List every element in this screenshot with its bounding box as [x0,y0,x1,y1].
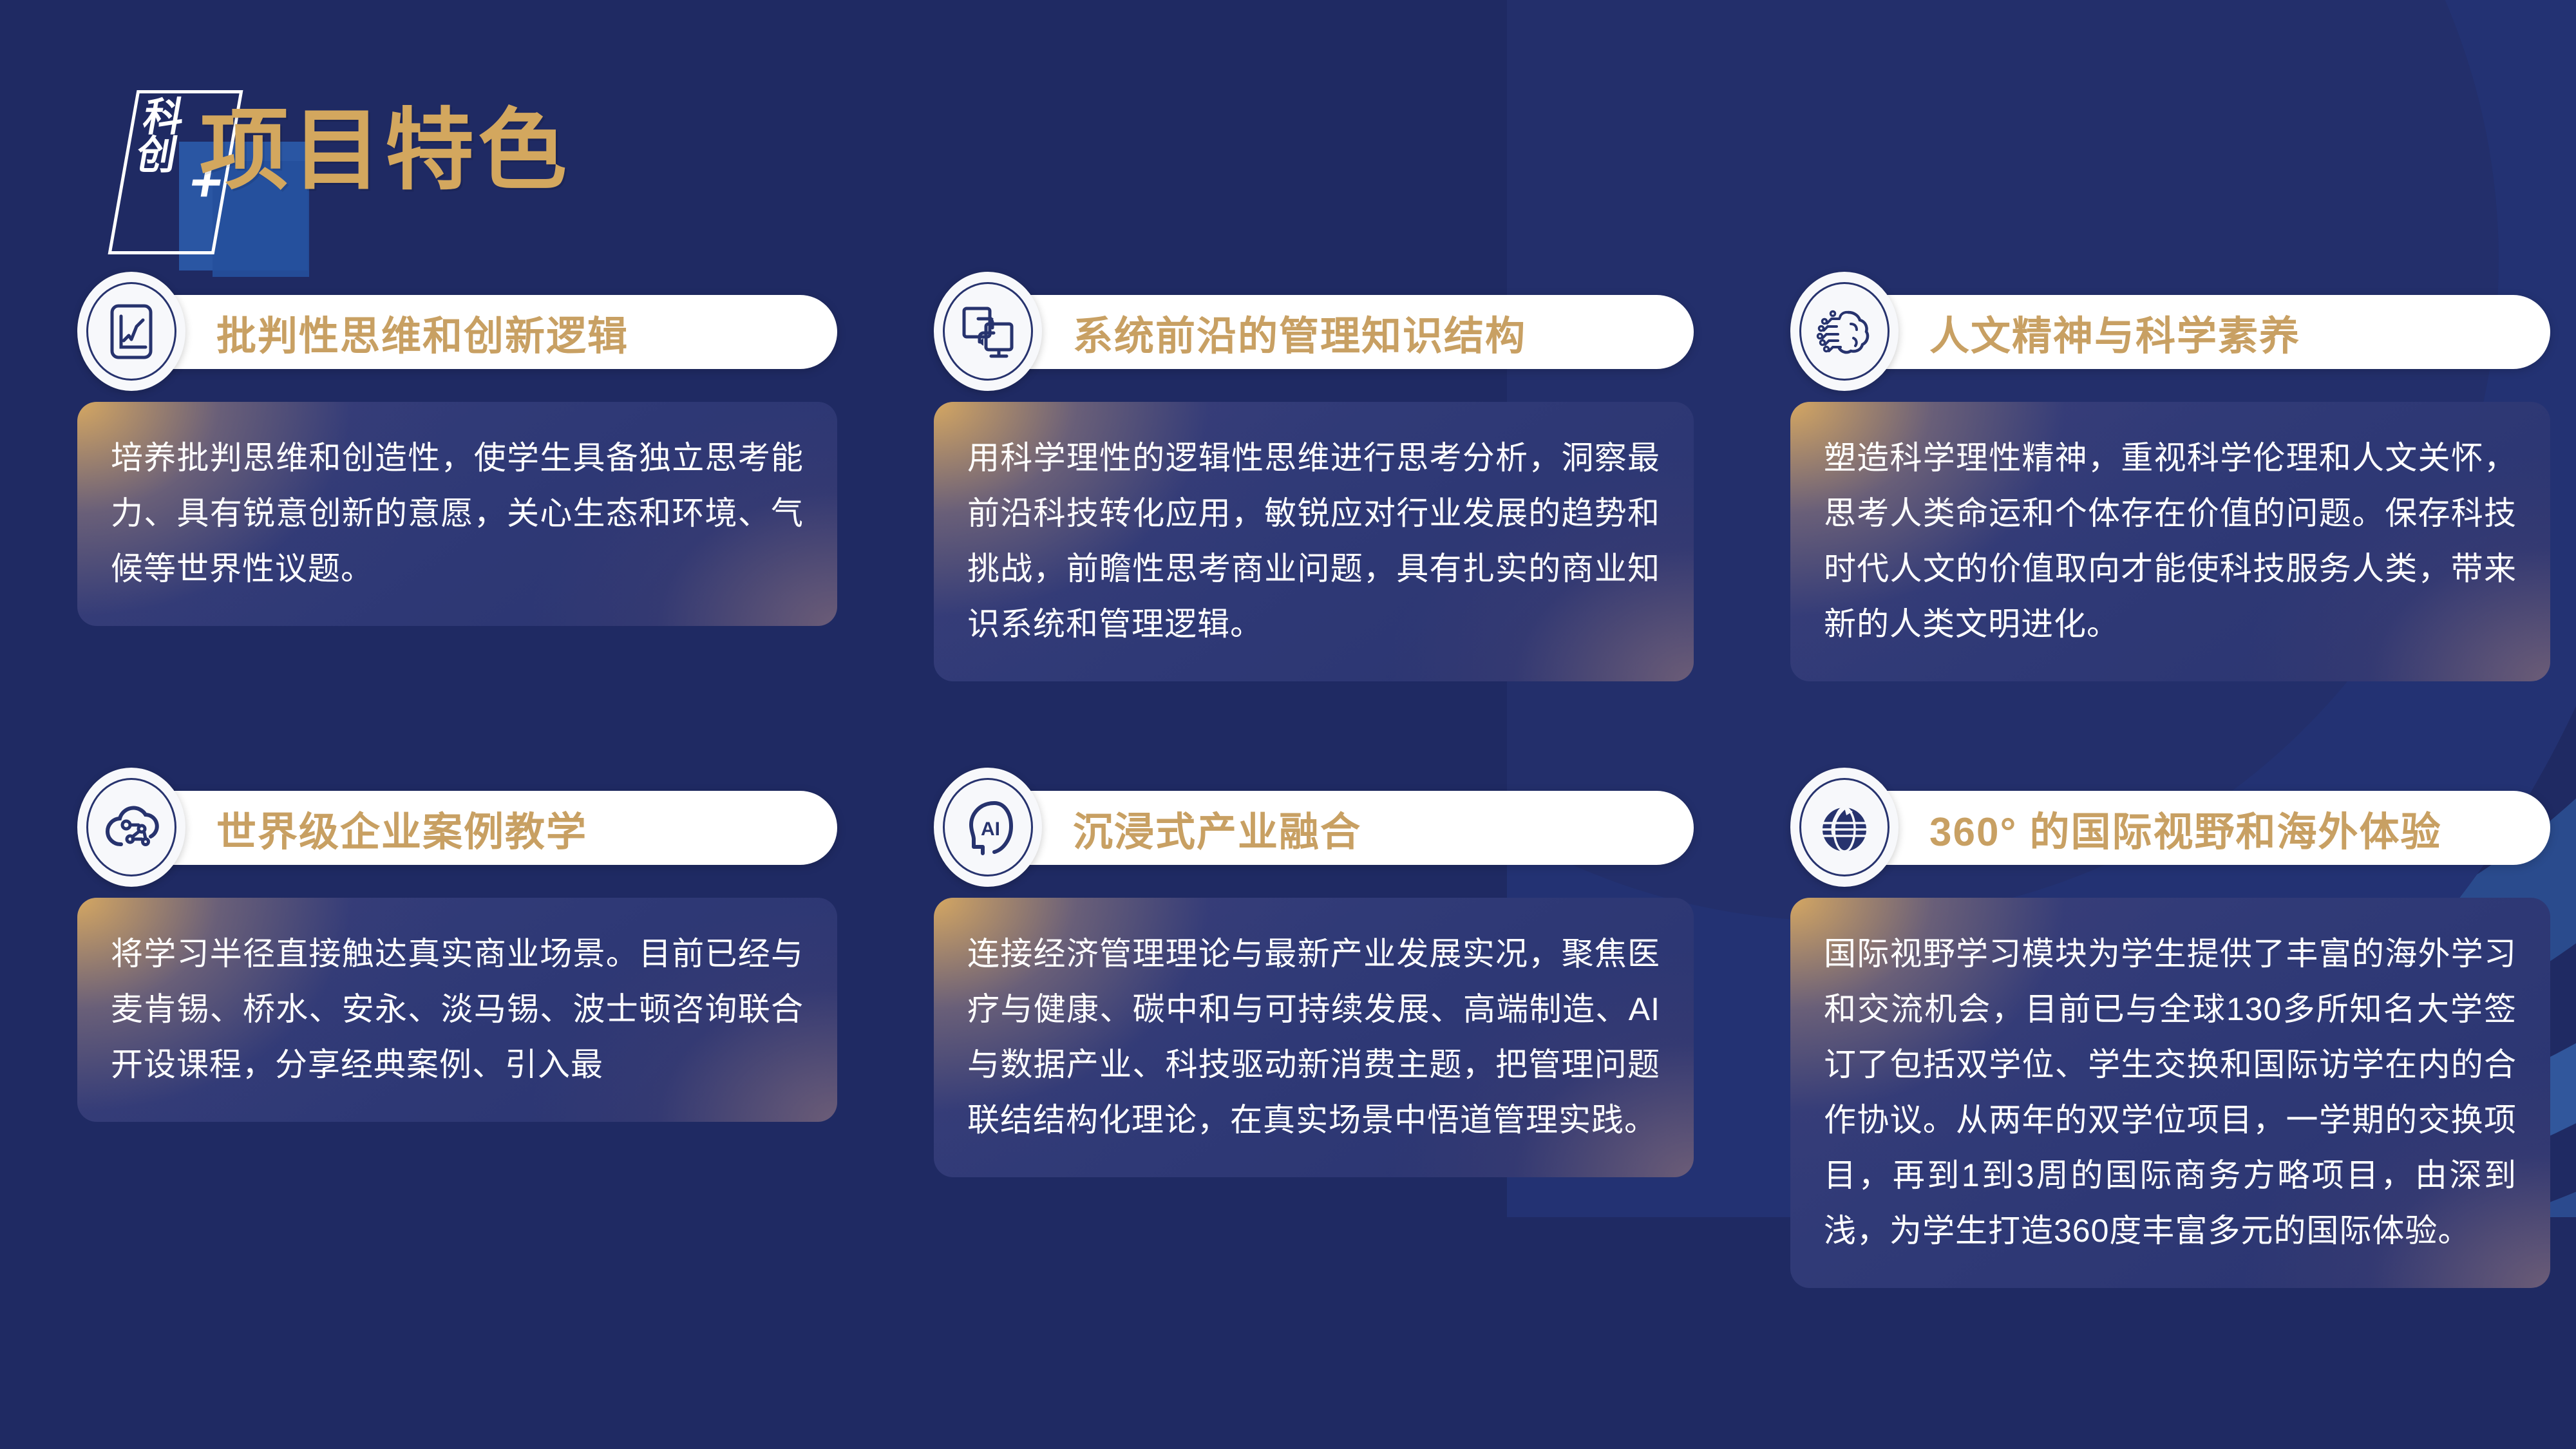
card-body-text: 国际视野学习模块为学生提供了丰富的海外学习和交流机会，目前已与全球130多所知名… [1824,926,2517,1258]
globe-icon [1790,768,1899,887]
feature-card[interactable]: 人文精神与科学素养 [1790,283,2550,681]
card-row-2: 世界级企业案例教学 [0,779,2576,1282]
card-body: 培养批判思维和创造性，使学生具备独立思考能力、具有锐意创新的意愿，关心生态和环境… [77,402,837,626]
card-row-1: 批判性思维和创新逻辑 培养批判思维和创造性，使学生具备独立思 [0,283,2576,779]
card-title: 世界级企业案例教学 [216,791,587,865]
feature-card[interactable]: 沉浸式产业融合 AI 连接经济管理理论与最新产业发展实况，聚焦 [934,779,1694,1177]
card-icon-badge [77,272,185,391]
card-body-text: 培养批判思维和创造性，使学生具备独立思考能力、具有锐意创新的意愿，关心生态和环境… [111,430,804,596]
card-header: 人文精神与科学素养 [1820,283,2550,380]
svg-text:AI: AI [981,819,1000,840]
slide-header: 科创 + 项目特色 [122,84,702,232]
cloud-network-icon [77,768,185,887]
card-title: 批判性思维和创新逻辑 [216,295,629,369]
card-body: 将学习半径直接触达真实商业场景。目前已经与麦肯锡、桥水、安永、淡马锡、波士顿咨询… [77,898,837,1122]
card-body: 连接经济管理理论与最新产业发展实况，聚焦医疗与健康、碳中和与可持续发展、高端制造… [934,898,1694,1177]
card-title: 系统前沿的管理知识结构 [1073,295,1526,369]
feature-card[interactable]: 世界级企业案例教学 [77,779,837,1122]
card-icon-badge [934,272,1042,391]
logo-char-2: 创 [133,133,180,178]
card-body-text: 连接经济管理理论与最新产业发展实况，聚焦医疗与健康、碳中和与可持续发展、高端制造… [967,926,1660,1148]
card-body: 塑造科学理性精神，重视科学伦理和人文关怀，思考人类命运和个体存在价值的问题。保存… [1790,402,2550,681]
page-title: 项目特色 [200,106,571,195]
card-icon-badge [77,768,185,887]
card-header: 360° 的国际视野和海外体验 [1820,779,2550,876]
card-title: 人文精神与科学素养 [1929,295,2300,369]
card-header: 世界级企业案例教学 [107,779,837,876]
card-icon-badge [1790,768,1899,887]
card-body: 国际视野学习模块为学生提供了丰富的海外学习和交流机会，目前已与全球130多所知名… [1790,898,2550,1288]
feature-card[interactable]: 系统前沿的管理知识结构 [934,283,1694,681]
feature-card[interactable]: 360° 的国际视野和海外体验 [1790,779,2550,1288]
ai-brain-circuit-icon [1790,272,1899,391]
card-body-text: 用科学理性的逻辑性思维进行思考分析，洞察最前沿科技转化应用，敏锐应对行业发展的趋… [967,430,1660,652]
card-title: 360° 的国际视野和海外体验 [1929,791,2441,865]
ai-head-icon: AI [934,768,1042,887]
card-body-text: 塑造科学理性精神，重视科学伦理和人文关怀，思考人类命运和个体存在价值的问题。保存… [1824,430,2517,652]
feature-card[interactable]: 批判性思维和创新逻辑 培养批判思维和创造性，使学生具备独立思 [77,283,837,626]
card-title: 沉浸式产业融合 [1073,791,1361,865]
slide-canvas: 科创 + 项目特色 批判性思维和创新逻辑 [0,0,2576,1449]
line-chart-screen-icon [77,272,185,391]
feature-card-grid: 批判性思维和创新逻辑 培养批判思维和创造性，使学生具备独立思 [0,283,2576,1282]
card-icon-badge: AI [934,768,1042,887]
card-header: 批判性思维和创新逻辑 [107,283,837,380]
card-icon-badge [1790,272,1899,391]
card-header: 沉浸式产业融合 AI [963,779,1694,876]
card-header: 系统前沿的管理知识结构 [963,283,1694,380]
card-body: 用科学理性的逻辑性思维进行思考分析，洞察最前沿科技转化应用，敏锐应对行业发展的趋… [934,402,1694,681]
card-body-text: 将学习半径直接触达真实商业场景。目前已经与麦肯锡、桥水、安永、淡马锡、波士顿咨询… [111,926,804,1092]
device-sync-icon [934,272,1042,391]
